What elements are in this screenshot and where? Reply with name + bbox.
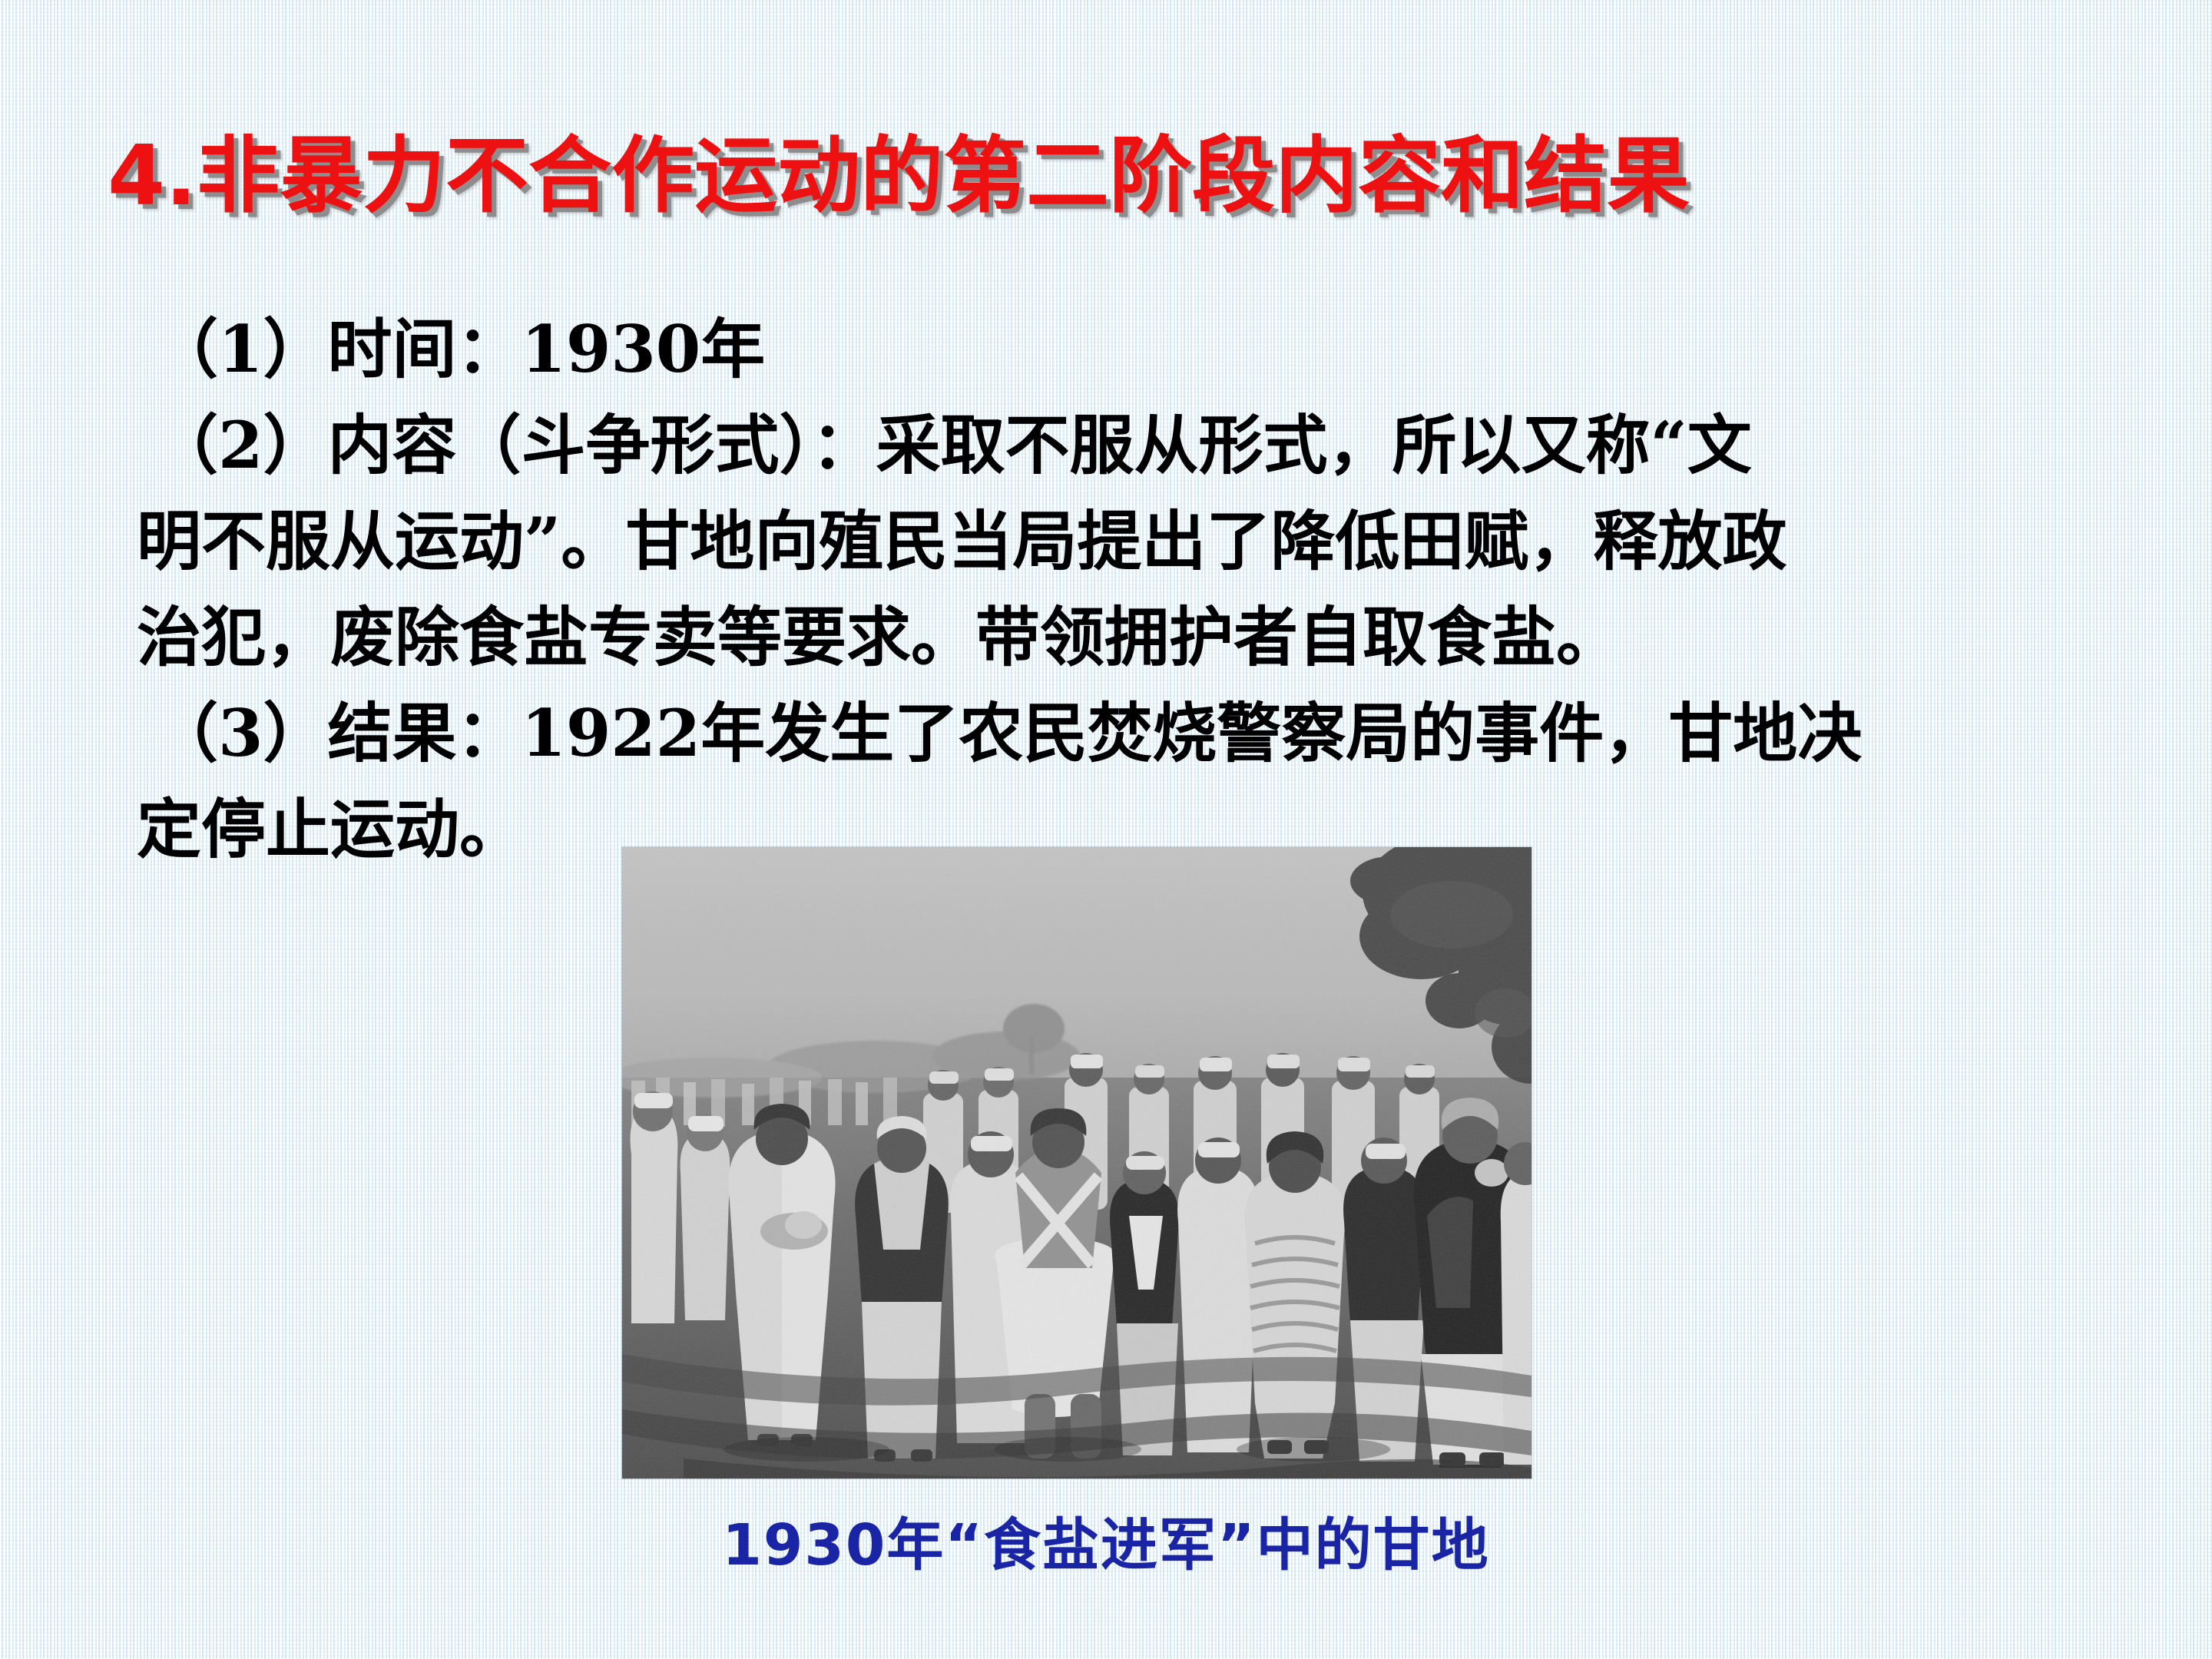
body-text-block: （1）时间：1930年 （2）内容（斗争形式）：采取不服从形式，所以又称“文 明… bbox=[154, 301, 2166, 877]
photo-caption: 1930年“食盐进军”中的甘地 bbox=[0, 1499, 2212, 1581]
salt-march-photo bbox=[622, 847, 1532, 1479]
body-line-3: 明不服从运动”。甘地向殖民当局提出了降低田赋，释放政 bbox=[137, 493, 2166, 589]
body-line-5: （3）结果：1922年发生了农民焚烧警察局的事件，甘地决 bbox=[154, 685, 2166, 781]
body-line-1: （1）时间：1930年 bbox=[154, 301, 2166, 397]
body-line-2: （2）内容（斗争形式）：采取不服从形式，所以又称“文 bbox=[154, 397, 2166, 493]
presentation-slide: 4.非暴力不合作运动的第二阶段内容和结果 （1）时间：1930年 （2）内容（斗… bbox=[0, 0, 2212, 1659]
body-line-4: 治犯，废除食盐专卖等要求。带领拥护者自取食盐。 bbox=[137, 589, 2166, 685]
slide-title: 4.非暴力不合作运动的第二阶段内容和结果 bbox=[108, 132, 1690, 222]
salt-march-photo-image bbox=[622, 847, 1532, 1479]
slide-content: 4.非暴力不合作运动的第二阶段内容和结果 （1）时间：1930年 （2）内容（斗… bbox=[0, 0, 2212, 1659]
